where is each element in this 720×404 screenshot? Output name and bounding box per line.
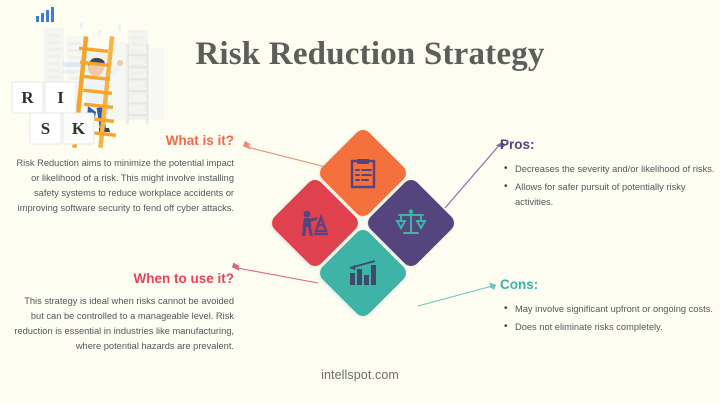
cons-heading: Cons: (500, 278, 715, 293)
bar-chart-icon (36, 7, 54, 22)
diamond-cluster (268, 132, 458, 327)
pros-block: Pros: Decreases the severity and/or like… (500, 138, 715, 212)
list-item: Does not eliminate risks completely. (513, 320, 715, 335)
what-is-it-heading: What is it? (12, 134, 234, 149)
risk-tile-letter: I (45, 82, 76, 113)
risk-tile-letter: R (12, 82, 43, 113)
when-to-use-it-block: When to use it? This strategy is ideal w… (12, 272, 234, 354)
what-is-it-body: Risk Reduction aims to minimize the pote… (12, 156, 234, 216)
list-item: May involve significant upfront or ongoi… (513, 302, 715, 317)
person-climbing-ladder-illustration: R I S K (0, 0, 185, 150)
declining-bar-chart-icon (347, 258, 379, 288)
page-title: Risk Reduction Strategy (160, 36, 580, 73)
pros-list: Decreases the severity and/or likelihood… (500, 162, 715, 210)
list-item: Allows for safer pursuit of potentially … (513, 180, 715, 210)
when-to-use-it-heading: When to use it? (12, 272, 234, 287)
clipboard-checklist-icon (348, 157, 378, 189)
balance-scale-icon (395, 208, 427, 238)
cons-list: May involve significant upfront or ongoi… (500, 302, 715, 335)
safety-worker-icon (299, 208, 331, 238)
pros-heading: Pros: (500, 138, 715, 153)
what-is-it-block: What is it? Risk Reduction aims to minim… (12, 134, 234, 216)
site-watermark: intellspot.com (0, 368, 720, 382)
cons-block: Cons: May involve significant upfront or… (500, 278, 715, 338)
when-to-use-it-body: This strategy is ideal when risks cannot… (12, 294, 234, 354)
infographic-canvas: R I S K Risk Reduction Strategy (0, 0, 720, 404)
list-item: Decreases the severity and/or likelihood… (513, 162, 715, 177)
